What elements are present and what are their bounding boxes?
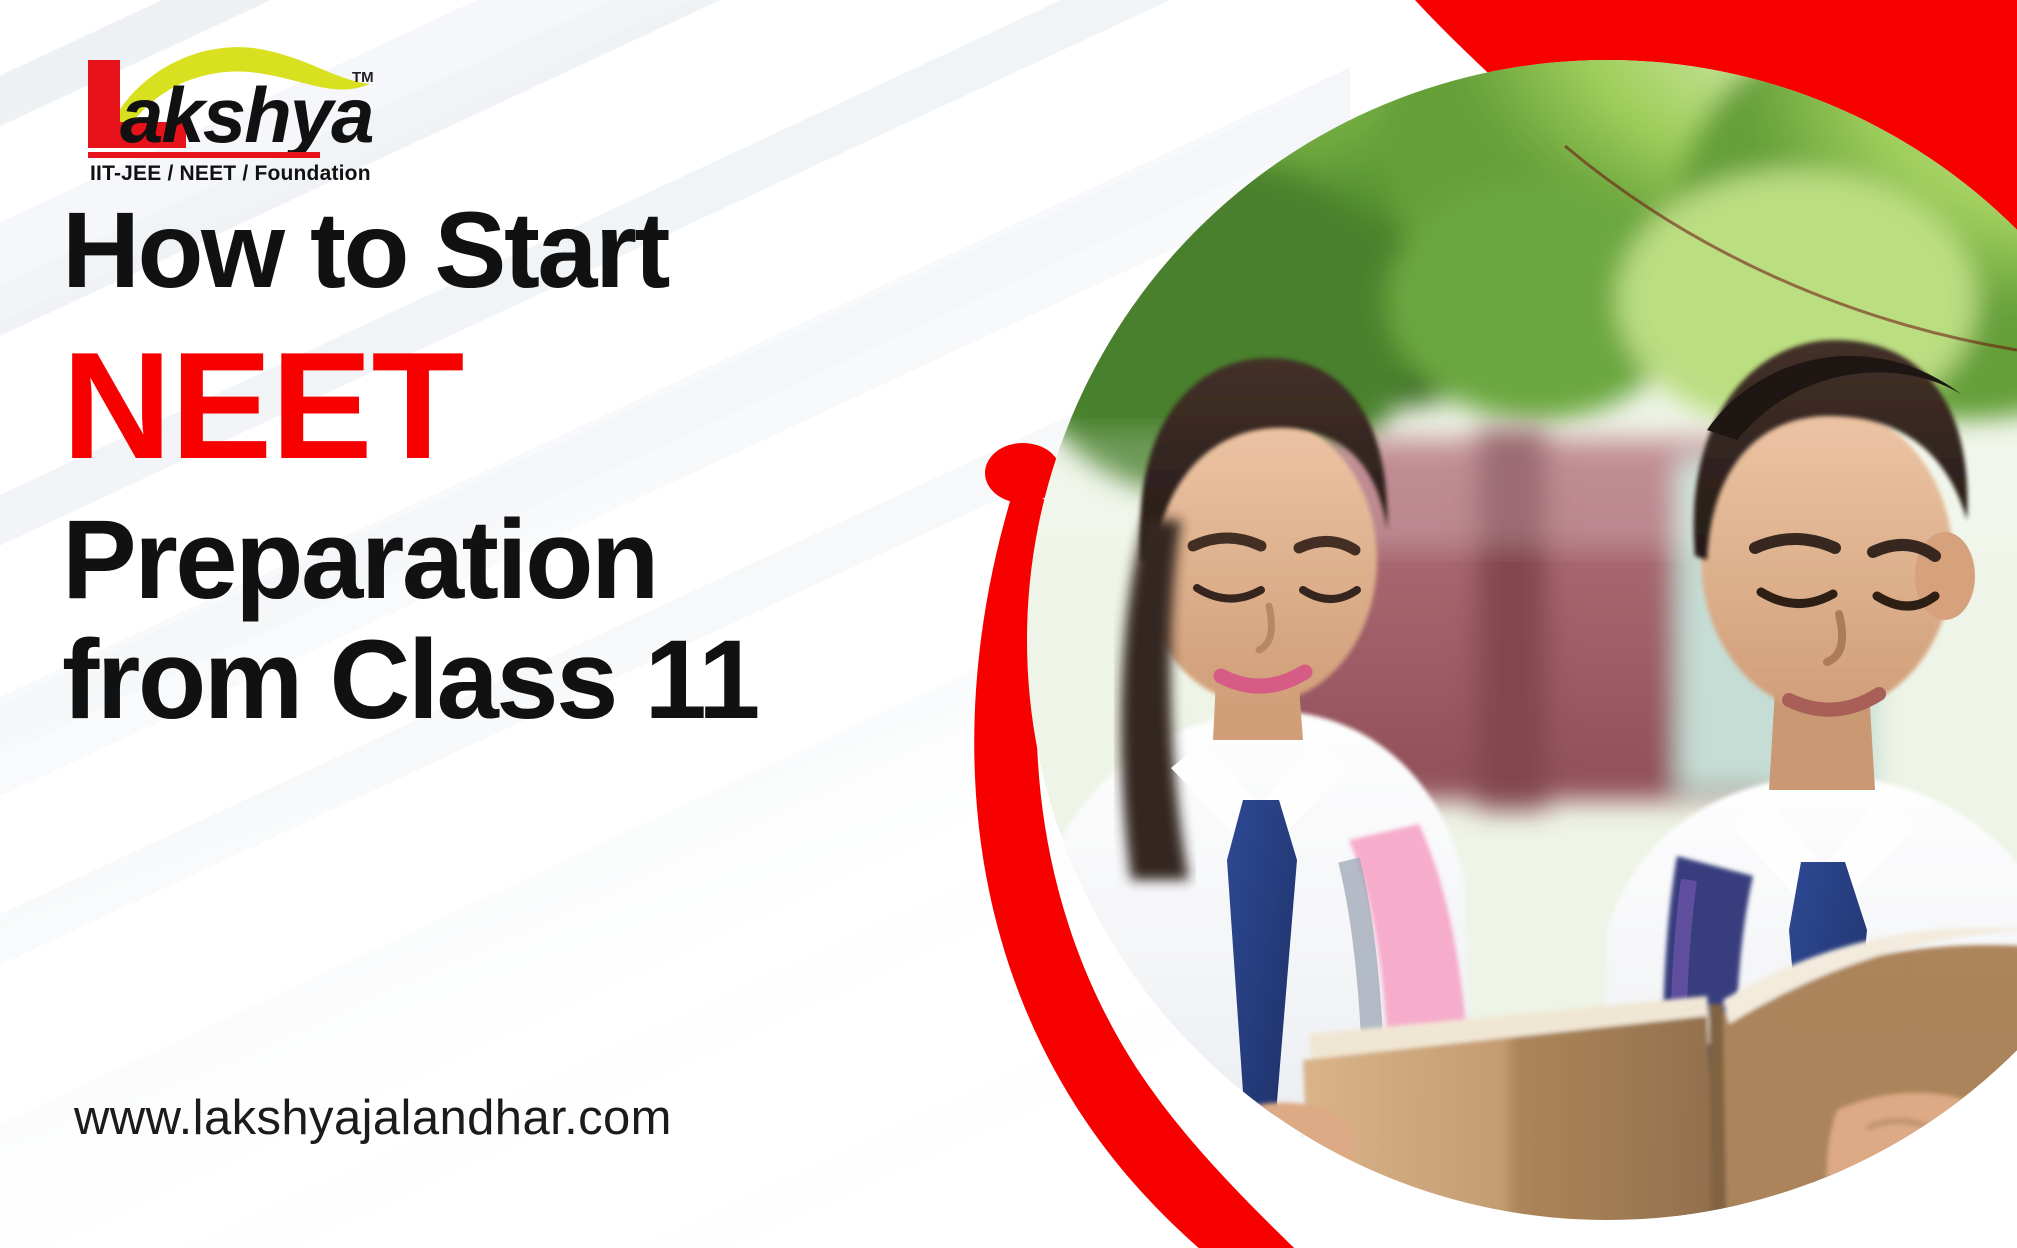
trademark-symbol: TM (352, 69, 374, 86)
logo-wordmark: akshya (120, 71, 373, 159)
student-photo (1017, 0, 2017, 1248)
logo-tagline: IIT-JEE / NEET / Foundation (90, 162, 371, 185)
headline-line-4: from Class 11 (62, 624, 1062, 736)
logo-divider-bar (88, 152, 320, 158)
headline-line-1: How to Start (62, 196, 1062, 304)
headline-line-3: Preparation (62, 504, 1062, 616)
page-title: How to Start NEET Preparation from Class… (62, 196, 1062, 736)
website-url[interactable]: www.lakshyajalandhar.com (74, 1090, 672, 1146)
artwork-panel (917, 0, 2017, 1248)
promo-banner: akshya TM IIT-JEE / NEET / Foundation Ho… (0, 0, 2017, 1248)
headline-line-2-highlight: NEET (62, 330, 1062, 482)
lakshya-logo[interactable]: akshya TM IIT-JEE / NEET / Foundation (60, 36, 390, 186)
